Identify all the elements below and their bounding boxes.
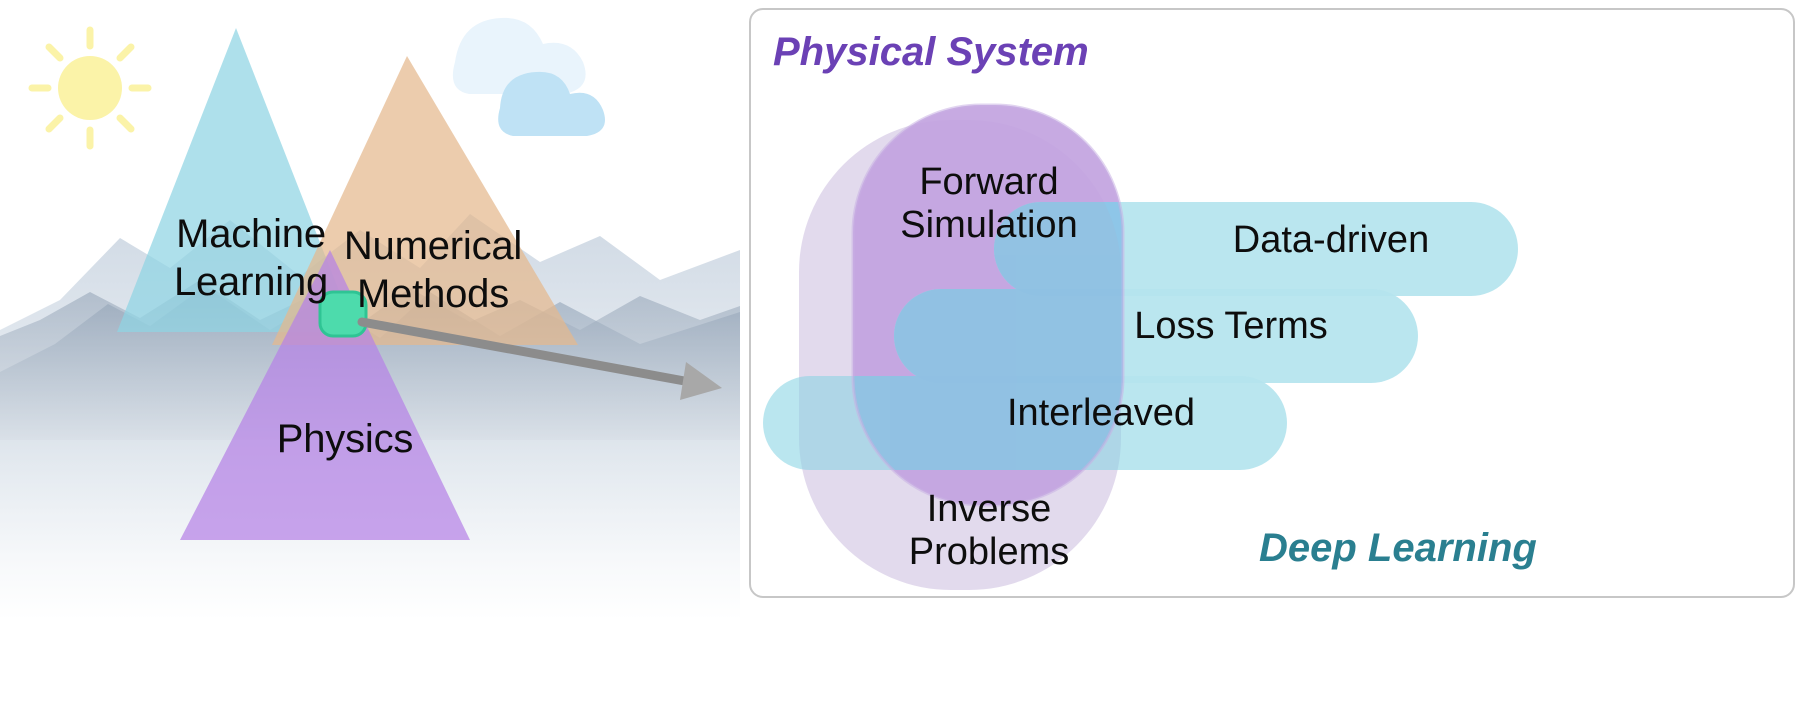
triangle-label-physics: Physics [252,415,438,463]
pill-label-interleaved: Interleaved [941,392,1261,435]
diagram-root: Machine Learning Numerical Methods Physi… [0,0,1800,702]
blob-label-forward-simulation: Forward Simulation [869,161,1109,247]
blob-label-inverse-problems: Inverse Problems [869,488,1109,574]
pill-label-loss-terms: Loss Terms [1071,305,1391,348]
venn-mountains-scene: Machine Learning Numerical Methods Physi… [0,0,740,702]
sun-icon [32,30,148,146]
physical-system-deep-learning-card: Physical System Deep Learning Forward Si… [749,8,1795,598]
scene-graphics [0,0,740,702]
card-title-physical-system: Physical System [773,30,1089,75]
card-title-deep-learning: Deep Learning [1259,526,1537,571]
triangle-label-numerical-methods: Numerical Methods [340,222,526,318]
triangle-label-machine-learning: Machine Learning [158,210,344,306]
pill-label-data-driven: Data-driven [1171,219,1491,262]
